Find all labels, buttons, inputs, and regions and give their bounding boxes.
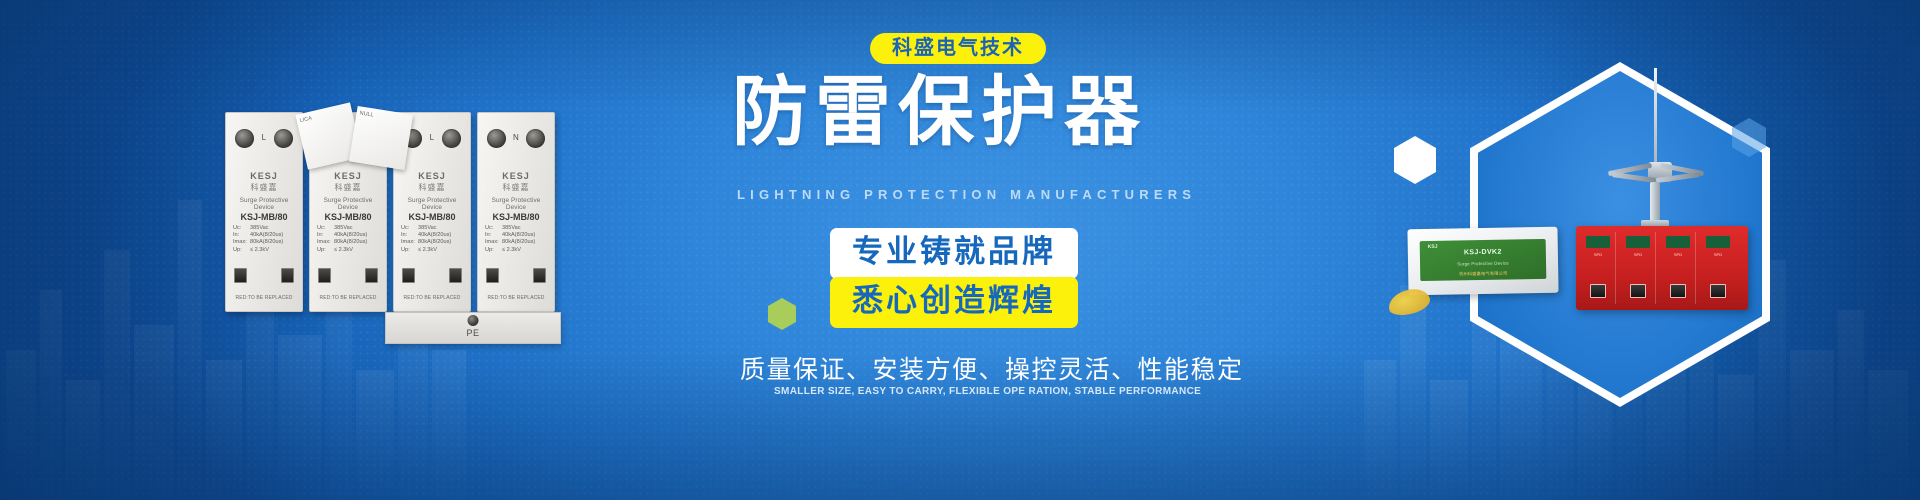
red-pole-switch: [1710, 284, 1726, 298]
indicator-window-icon: [1586, 236, 1610, 248]
red-module-pole: SPD: [1580, 232, 1616, 304]
red-pole-label: SPD: [1664, 252, 1692, 257]
subtitle-english: LIGHTNING PROTECTION MANUFACTURERS: [737, 187, 1196, 202]
green-surge-device: KSJ KSJ-DVK2 Surge Protective Device 杭州科…: [1407, 227, 1558, 296]
red-pole-switch: [1590, 284, 1606, 298]
feature-list-chinese: 质量保证、安装方便、操控灵活、性能稳定: [740, 350, 1244, 386]
green-device-company: 杭州科盛嘉电气有限公司: [1420, 270, 1546, 278]
red-module-pole: SPD: [1660, 232, 1696, 304]
red-module-pole: SPD: [1620, 232, 1656, 304]
red-pole-switch: [1670, 284, 1686, 298]
feature-list-english: SMALLER SIZE, EASY TO CARRY, FLEXIBLE OP…: [774, 386, 1201, 397]
lightning-rod-head: [1608, 158, 1704, 184]
green-device-subtitle: Surge Protective Device: [1420, 260, 1546, 267]
green-device-body: KSJ KSJ-DVK2 Surge Protective Device 杭州科…: [1420, 239, 1547, 281]
red-pole-label: SPD: [1584, 252, 1612, 257]
brand-badge: 科盛电气技术: [870, 33, 1046, 64]
indicator-window-icon: [1706, 236, 1730, 248]
device-showcase: KSJ KSJ-DVK2 Surge Protective Device 杭州科…: [1380, 40, 1810, 440]
indicator-window-icon: [1666, 236, 1690, 248]
hexagon-accent-small: [1394, 136, 1436, 184]
hexagon-decoration-icon: [768, 298, 796, 330]
red-pole-switch: [1630, 284, 1646, 298]
red-spd-module: SPD SPD SPD SPD: [1576, 226, 1748, 310]
green-device-model: KSJ-DVK2: [1420, 248, 1546, 257]
pitch-line-white: 专业铸就品牌: [830, 228, 1078, 279]
page-title: 防雷保护器: [732, 72, 1147, 154]
red-module-pole: SPD: [1700, 232, 1736, 304]
red-pole-label: SPD: [1624, 252, 1652, 257]
promotional-banner: L KESJ 科盛嘉 Surge Protective Device KSJ-M…: [0, 0, 1920, 500]
lightning-rod-product: [1602, 68, 1712, 238]
indicator-window-icon: [1626, 236, 1650, 248]
red-pole-label: SPD: [1704, 252, 1732, 257]
pitch-line-yellow: 悉心创造辉煌: [830, 277, 1078, 328]
